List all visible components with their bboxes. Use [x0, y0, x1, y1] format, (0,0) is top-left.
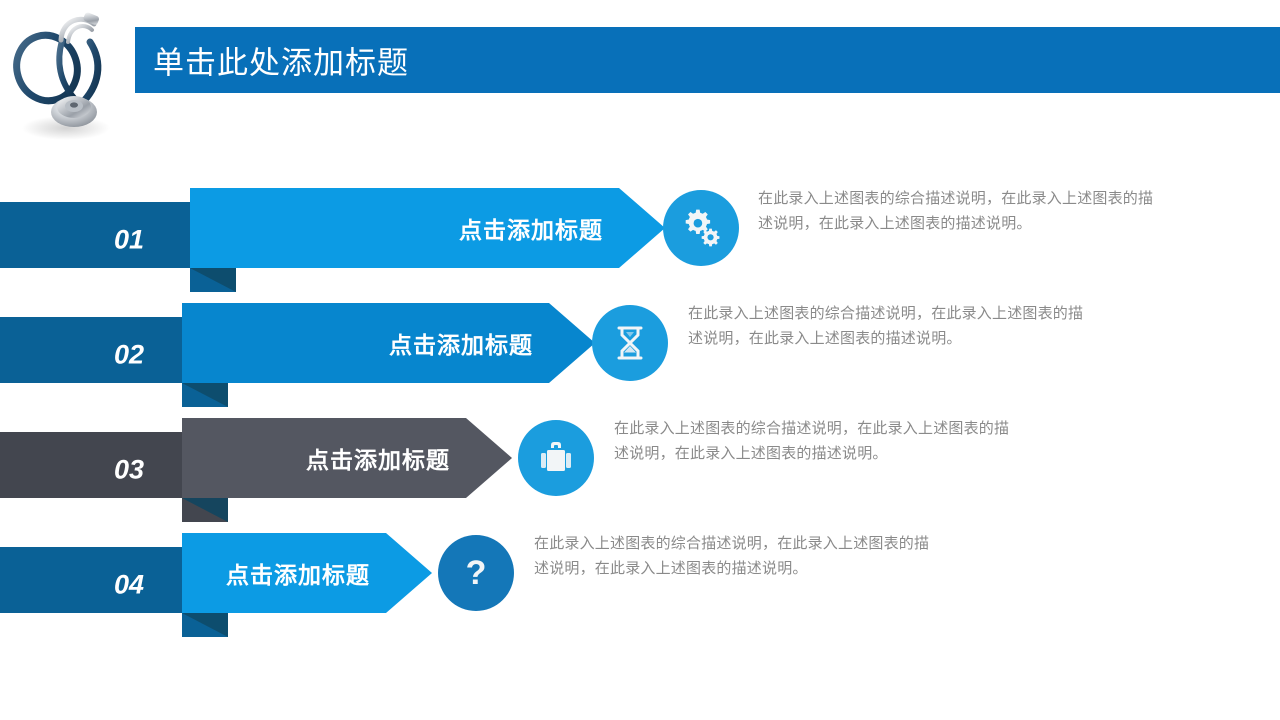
row-banner-label: 点击添加标题	[226, 556, 370, 590]
row-banner-label: 点击添加标题	[459, 211, 603, 245]
row-banner-label: 点击添加标题	[389, 326, 533, 360]
briefcase-icon	[518, 420, 594, 496]
stethoscope-image	[4, 6, 132, 146]
question-mark-icon: ?	[438, 535, 514, 611]
content-row: 01 点击添加标题 在此录入上述图表的综合描述说明，在此录入上述图表的描述说明，…	[0, 180, 1280, 300]
row-description: 在此录入上述图表的综合描述说明，在此录入上述图表的描述说明，在此录入上述图表的描…	[534, 531, 942, 581]
row-banner-label: 点击添加标题	[306, 441, 450, 475]
row-banner[interactable]: 点击添加标题	[190, 188, 665, 268]
row-description: 在此录入上述图表的综合描述说明，在此录入上述图表的描述说明，在此录入上述图表的描…	[614, 416, 1022, 466]
hourglass-icon	[592, 305, 668, 381]
row-description: 在此录入上述图表的综合描述说明，在此录入上述图表的描述说明，在此录入上述图表的描…	[688, 301, 1096, 351]
content-row: 04 点击添加标题 ? 在此录入上述图表的综合描述说明，在此录入上述图表的描述说…	[0, 525, 1280, 645]
row-banner[interactable]: 点击添加标题	[182, 418, 512, 498]
row-banner[interactable]: 点击添加标题	[182, 303, 595, 383]
row-number: 01	[114, 225, 144, 256]
content-row: 03 点击添加标题 在此录入上述图表的综合描述说明，在此录入上述图表的描述说明，…	[0, 410, 1280, 530]
svg-text:?: ?	[466, 554, 487, 592]
gears-icon	[663, 190, 739, 266]
row-number: 02	[114, 340, 144, 371]
row-number-plate	[0, 432, 205, 498]
content-row: 02 点击添加标题 在此录入上述图表的综合描述说明，在此录入上述图表的描述说明，…	[0, 295, 1280, 415]
row-description: 在此录入上述图表的综合描述说明，在此录入上述图表的描述说明，在此录入上述图表的描…	[758, 186, 1166, 236]
row-banner[interactable]: 点击添加标题	[182, 533, 432, 613]
slide-title-bar: 单击此处添加标题	[135, 27, 1280, 93]
page-title: 单击此处添加标题	[153, 38, 409, 83]
row-number: 03	[114, 455, 144, 486]
row-number: 04	[114, 570, 144, 601]
